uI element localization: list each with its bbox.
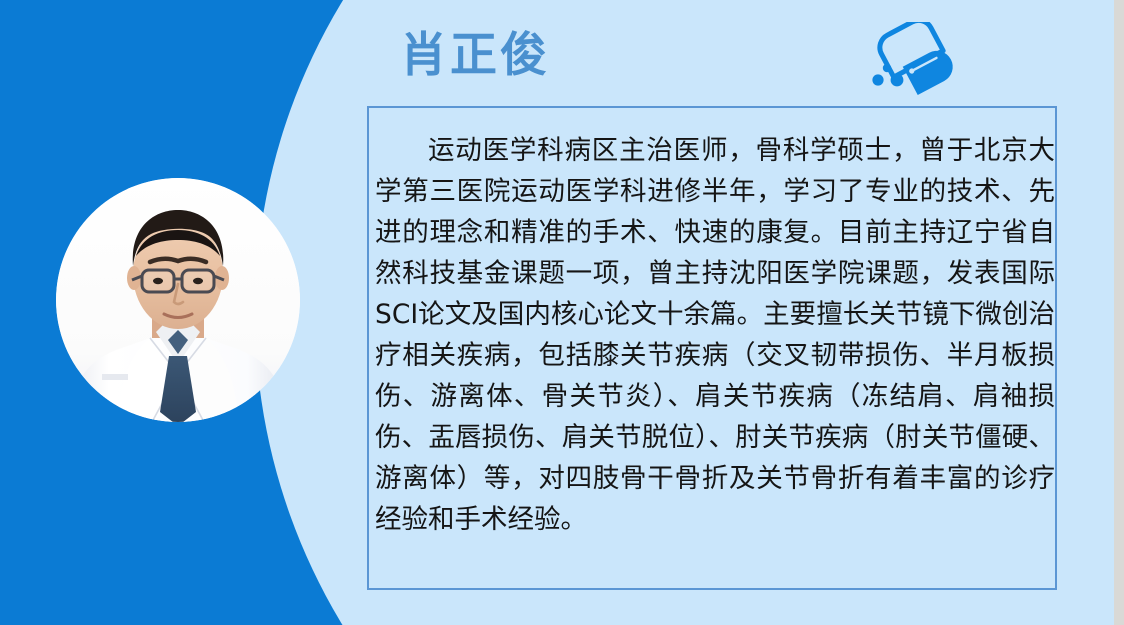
open-capsule-pill-icon	[866, 22, 970, 96]
page-title: 肖正俊	[400, 30, 550, 82]
portrait-illustration	[56, 178, 300, 422]
biography-text: 运动医学科病区主治医师，骨科学硕士，曾于北京大学第三医院运动医学科进修半年，学习…	[375, 130, 1055, 540]
doctor-portrait-avatar	[56, 178, 300, 422]
page-right-margin	[1114, 0, 1124, 625]
slide-canvas: 肖正俊 运动医学科病区主治医师，骨科学硕士，曾于北京大学第三医院运动医学科进修半…	[0, 0, 1114, 625]
